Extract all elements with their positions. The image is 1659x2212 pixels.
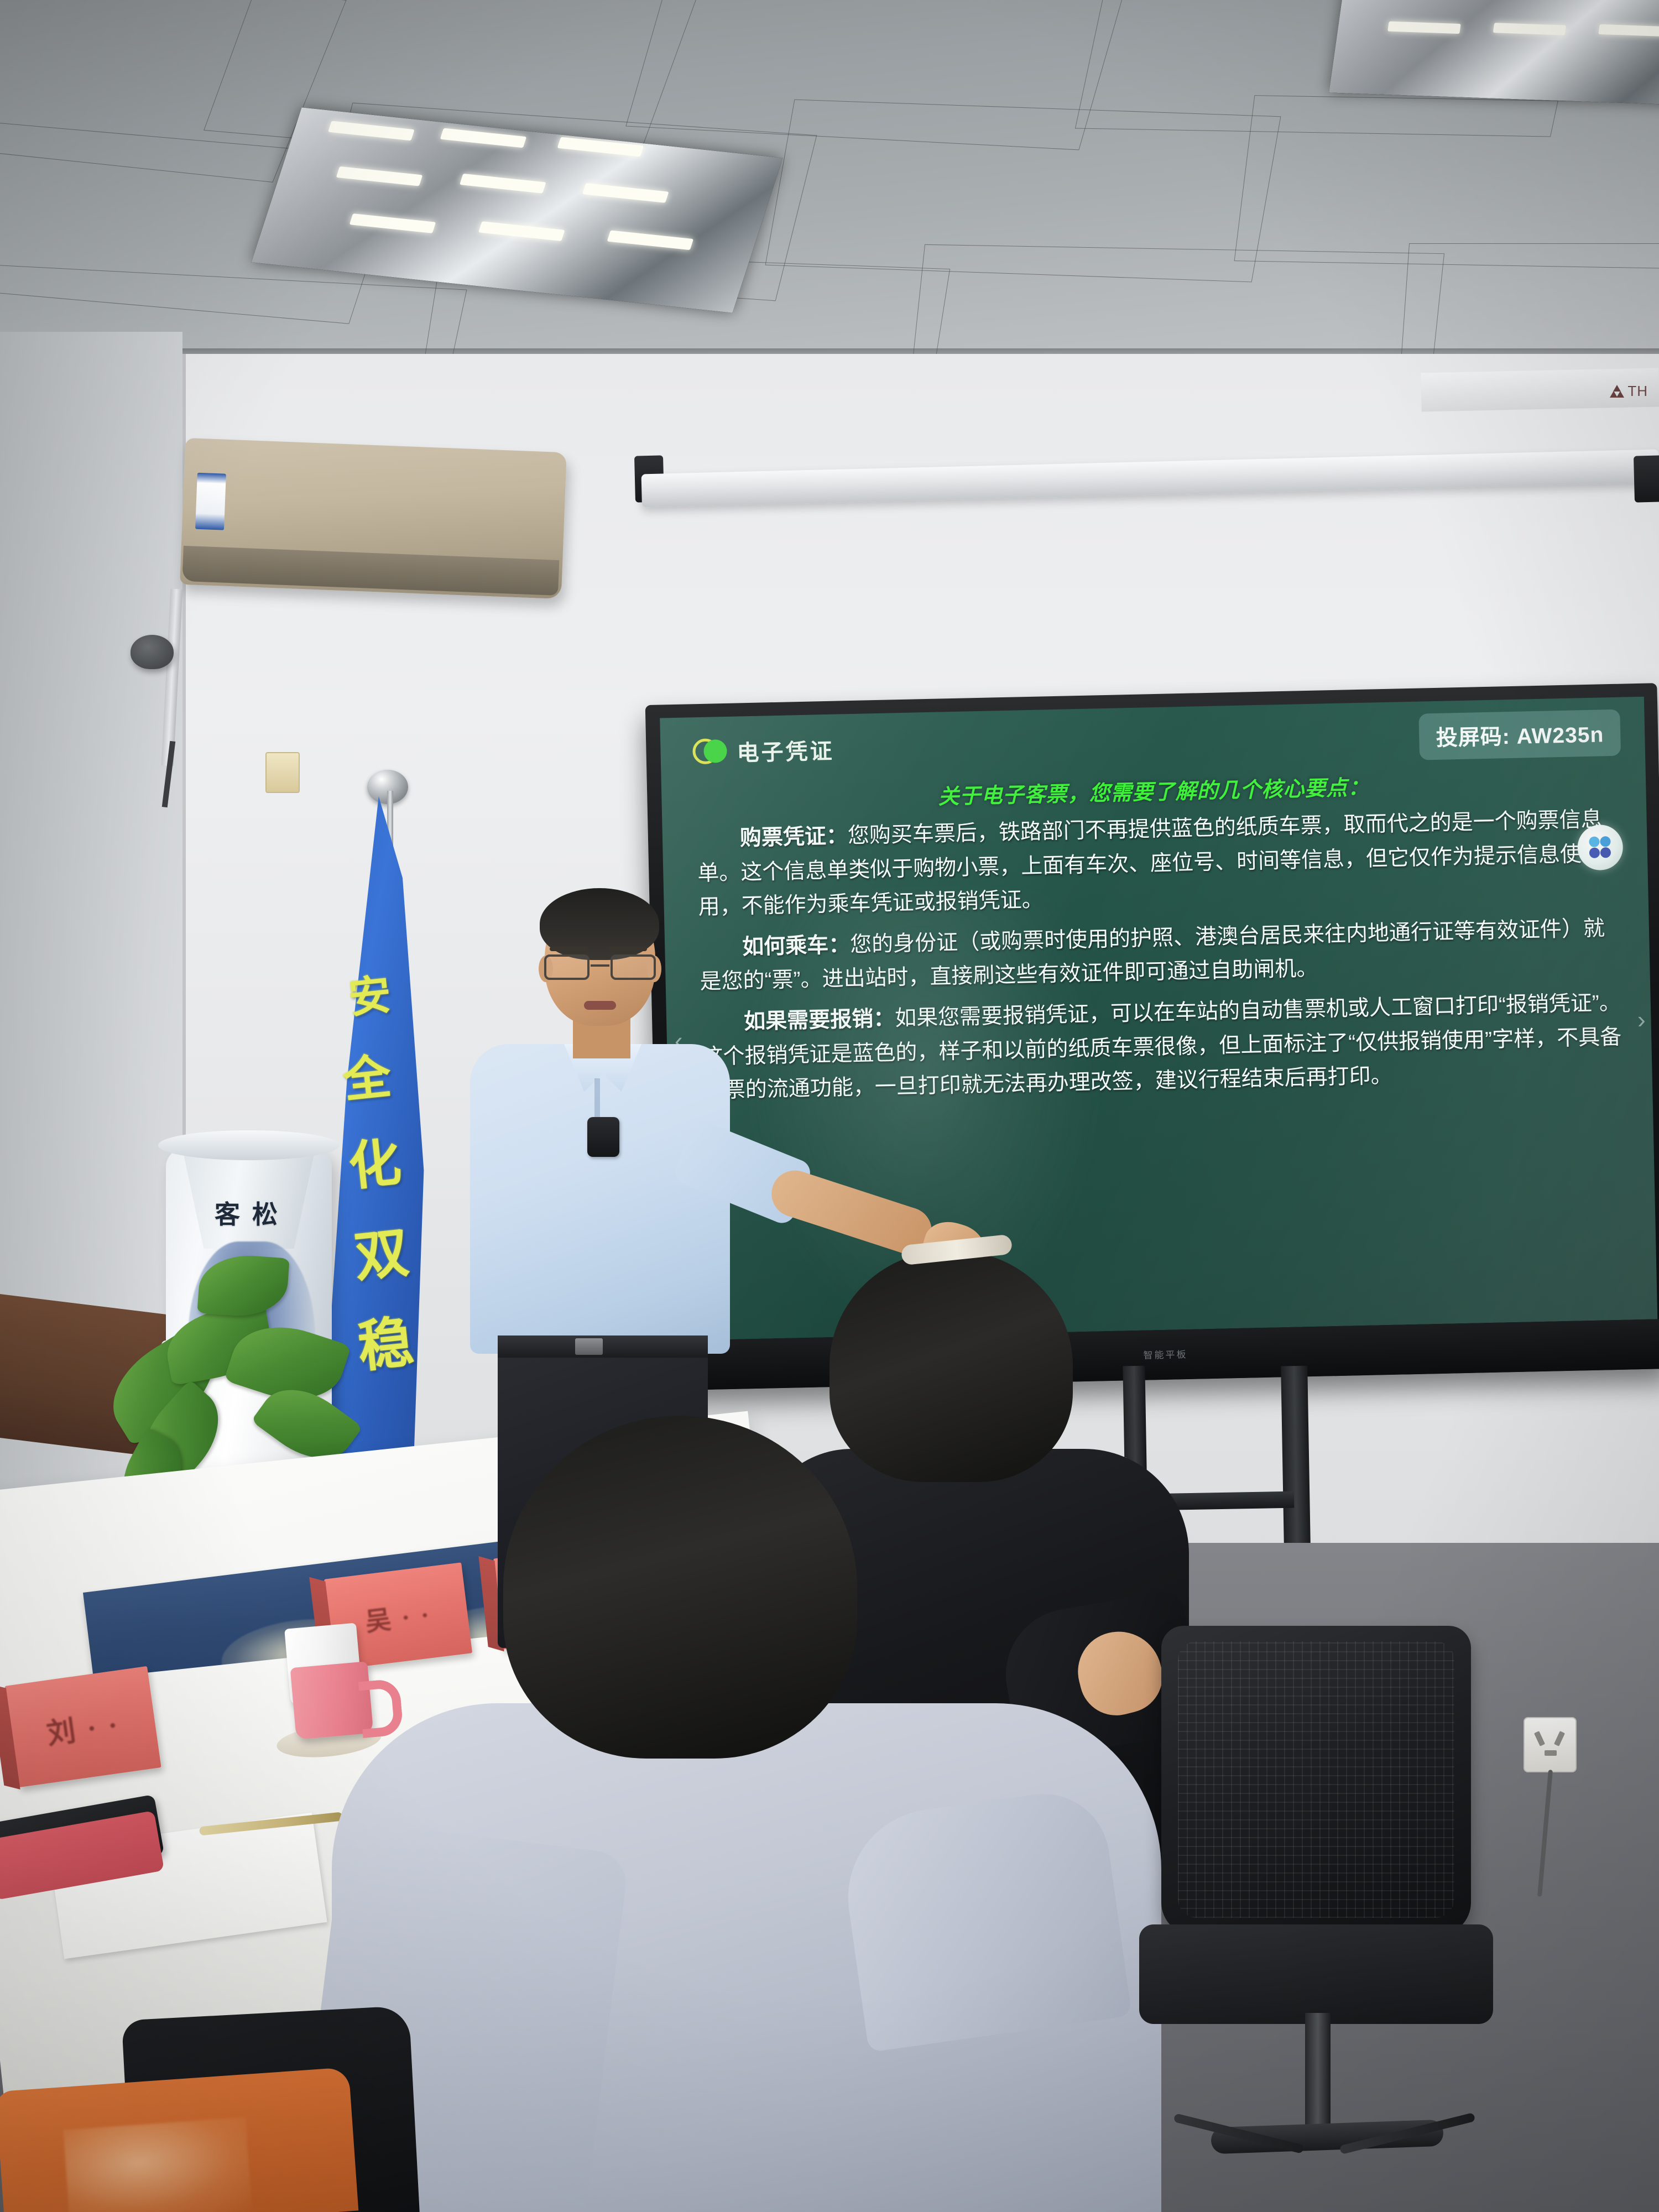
paragraph-lead: 如果需要报销： — [744, 1006, 895, 1034]
app-logo-label: 电子凭证 — [737, 733, 834, 768]
place-name-card: 刘 · · — [4, 1666, 161, 1787]
name-card-text: 刘 · · — [44, 1701, 122, 1752]
chair-gas-post — [1305, 2013, 1331, 2140]
app-logo: 电子凭证 — [692, 733, 834, 769]
name-card-side — [0, 1684, 20, 1790]
slide-paragraph: 如果需要报销：如果您需要报销凭证，可以在车站的自动售票机或人工窗口打印“报销凭证… — [701, 986, 1625, 1108]
power-socket — [1524, 1717, 1577, 1772]
flower-icon — [1589, 836, 1611, 859]
flag-character: 化 — [345, 1120, 404, 1200]
ceiling-light-fixture — [1329, 0, 1659, 107]
ac-energy-label — [195, 473, 226, 530]
slide-paragraph: 购票凭证：您购买车票后，铁路部门不再提供蓝色的纸质车票，取而代之的是一个购票信息… — [696, 802, 1621, 925]
presenter-mouth — [584, 1001, 616, 1010]
presenter — [459, 896, 747, 1504]
flag-character: 双 — [350, 1208, 412, 1292]
flag-character: 全 — [340, 1037, 394, 1111]
paragraph-lead: 如何乘车： — [742, 933, 851, 959]
presenter-shirt — [470, 1044, 730, 1354]
smoke-detector-icon — [131, 635, 174, 669]
wall-plate — [265, 752, 300, 793]
next-slide-arrow-icon[interactable]: › — [1637, 1006, 1646, 1034]
chair-seat — [1139, 1924, 1493, 2024]
wall-rail-logo-text: TH — [1627, 383, 1648, 400]
slide-body: 购票凭证：您购买车票后，铁路部门不再提供蓝色的纸质车票，取而代之的是一个购票信息… — [696, 802, 1625, 1115]
presenter-eyebrow — [550, 947, 588, 951]
office-chair[interactable] — [1128, 1626, 1526, 2212]
presenter-belt — [498, 1335, 708, 1358]
paragraph-lead: 购票凭证： — [740, 824, 848, 850]
vase-rim — [158, 1130, 340, 1160]
chair-mesh-panel — [1178, 1641, 1454, 1918]
ac-vent — [203, 555, 513, 572]
cast-code-chip: 投屏码: AW235n — [1419, 709, 1621, 760]
slide-paragraph: 如何乘车：您的身份证（或购票时使用的护照、港澳台居民来往内地通行证等有效证件）就… — [699, 911, 1623, 1000]
diamond-logo-icon — [1610, 385, 1624, 398]
lapel-microphone — [587, 1117, 619, 1157]
wall-rail-logo: TH — [1610, 383, 1648, 400]
air-conditioner — [180, 438, 567, 599]
foreground-cloth-pattern — [63, 2117, 252, 2212]
flag-character: 稳 — [353, 1297, 417, 1383]
photo-scene: TH 安 全 化 双 稳 客松 电 — [0, 0, 1659, 2212]
attendee-front-row — [409, 1416, 1194, 2212]
presenter-eyebrow — [608, 947, 647, 951]
eyeglasses-icon — [543, 954, 657, 981]
display-screen[interactable]: 电子凭证 投屏码: AW235n 关于电子客票，您需要了解的几个核心要点： 购票… — [660, 697, 1657, 1341]
vase-inscription: 客松 — [215, 1194, 290, 1231]
screen-roller-cap-right — [1634, 455, 1659, 502]
attendee-hair — [503, 1416, 857, 1759]
presenter-belt-buckle — [575, 1338, 603, 1355]
flag-character: 安 — [345, 960, 393, 1025]
two-circles-icon — [692, 738, 727, 765]
